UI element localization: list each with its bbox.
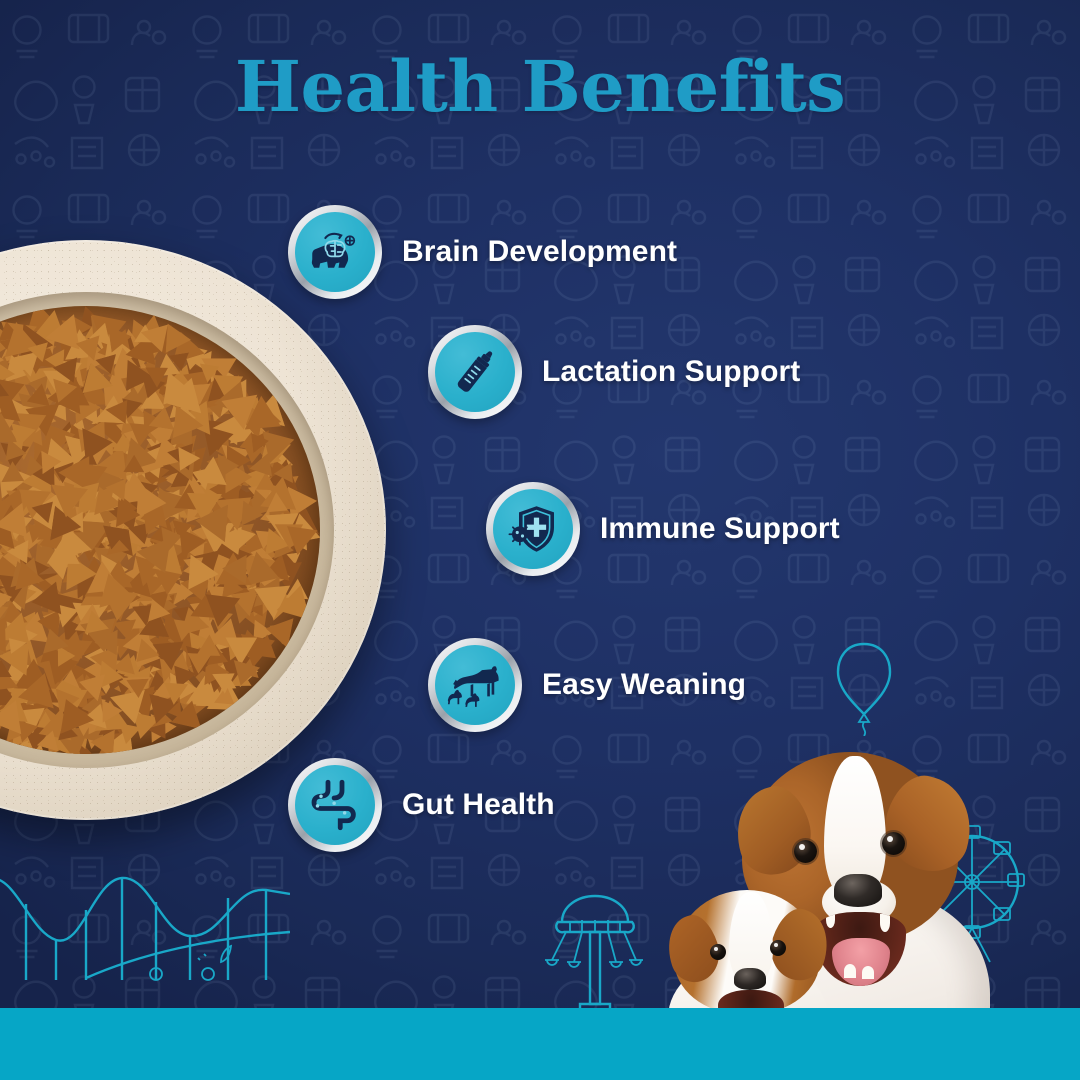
puppy-eye-left (710, 944, 726, 960)
puppy-eye-right (770, 940, 786, 956)
intestine-icon (295, 765, 375, 845)
bottom-accent-bar (0, 1008, 1080, 1080)
tooth (862, 966, 874, 979)
baby-bottle-icon (435, 332, 515, 412)
benefit-item-brain-development[interactable]: Brain Development (288, 205, 677, 299)
puppy-nose (734, 968, 766, 990)
puppy-head (674, 890, 820, 1014)
benefit-item-gut-health[interactable]: Gut Health (288, 758, 555, 852)
roller-coaster-line-art (0, 862, 290, 1012)
tooth (880, 914, 890, 932)
benefit-item-lactation-support[interactable]: Lactation Support (428, 325, 800, 419)
adult-dog-ear-right (875, 768, 983, 880)
swing-carousel-ride-line-art (540, 888, 650, 1018)
benefit-badge (288, 205, 382, 299)
benefit-badge (486, 482, 580, 576)
benefit-label: Lactation Support (542, 355, 800, 389)
adult-dog-eye-left (794, 840, 817, 863)
benefit-badge (428, 638, 522, 732)
poster-canvas: Health Benefits (0, 0, 1080, 1080)
adult-dog-ear-left (726, 779, 821, 882)
tooth (844, 964, 856, 978)
benefit-label: Brain Development (402, 235, 677, 269)
adult-dog-tongue (832, 938, 890, 986)
dog-with-puppies-icon (435, 645, 515, 725)
benefit-badge (428, 325, 522, 419)
adult-dog-eye-right (882, 832, 905, 855)
benefit-label: Gut Health (402, 788, 555, 822)
benefit-label: Immune Support (600, 512, 840, 546)
benefit-item-immune-support[interactable]: Immune Support (486, 482, 840, 576)
dog-brain-icon (295, 212, 375, 292)
adult-dog-nose (834, 874, 882, 907)
benefit-badge (288, 758, 382, 852)
shield-virus-icon (493, 489, 573, 569)
